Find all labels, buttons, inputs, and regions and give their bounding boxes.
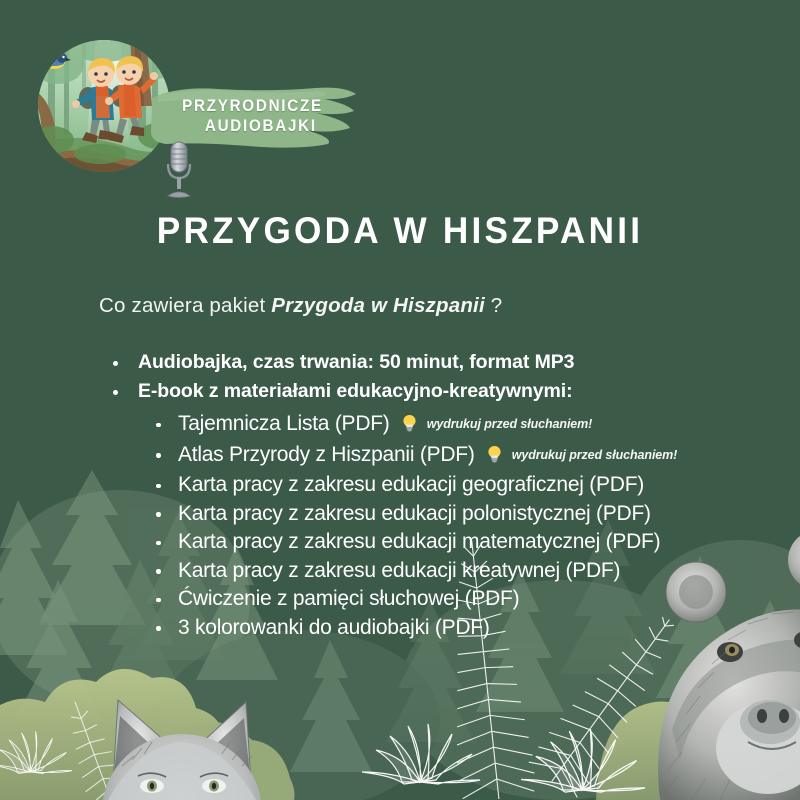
print-note: wydrukuj przed słuchaniem! xyxy=(427,417,593,431)
brand-line-2: AUDIOBAJKI xyxy=(205,117,317,135)
list-item: Karta pracy z zakresu edukacji kreatywne… xyxy=(0,557,800,586)
sub-level-list: Tajemnicza Lista (PDF) wydrukuj przed sł… xyxy=(0,410,800,642)
list-item: Karta pracy z zakresu edukacji geografic… xyxy=(0,471,800,500)
subtitle-emphasis: Przygoda w Hiszpanii xyxy=(271,294,485,317)
brand-line-1: PRZYRODNICZE xyxy=(182,97,323,115)
list-item: Audiobajka, czas trwania: 50 minut, form… xyxy=(0,348,800,377)
poster-canvas: PRZYRODNICZE AUDIOBAJKI xyxy=(0,0,800,800)
print-note: wydrukuj przed słuchaniem! xyxy=(512,448,678,462)
subtitle-question: Co zawiera pakiet Przygoda w Hiszpanii ? xyxy=(99,294,502,318)
list-item: Tajemnicza Lista (PDF) wydrukuj przed sł… xyxy=(0,410,800,441)
microphone-icon xyxy=(162,138,196,200)
page-title: PRZYGODA W HISZPANII xyxy=(20,210,780,252)
brand-header: PRZYRODNICZE AUDIOBAJKI xyxy=(22,28,362,183)
package-contents: Audiobajka, czas trwania: 50 minut, form… xyxy=(0,348,800,642)
subtitle-suffix: ? xyxy=(485,294,503,317)
list-item: Karta pracy z zakresu edukacji matematyc… xyxy=(0,528,800,557)
list-item-label: Atlas Przyrody z Hiszpanii (PDF) xyxy=(178,443,475,466)
lightbulb-icon xyxy=(402,414,417,433)
list-item: Atlas Przyrody z Hiszpanii (PDF) wydruku… xyxy=(0,441,800,472)
list-item: Ćwiczenie z pamięci słuchowej (PDF) xyxy=(0,585,800,614)
fox-illustration xyxy=(102,700,262,800)
list-item: 3 kolorowanki do audiobajki (PDF) xyxy=(0,614,800,643)
list-item: E-book z materiałami edukacyjno-kreatywn… xyxy=(0,377,800,406)
list-item: Karta pracy z zakresu edukacji polonisty… xyxy=(0,500,800,529)
top-level-list: Audiobajka, czas trwania: 50 minut, form… xyxy=(0,348,800,406)
subtitle-prefix: Co zawiera pakiet xyxy=(99,294,271,317)
lightbulb-icon xyxy=(487,445,502,464)
list-item-label: Tajemnicza Lista (PDF) xyxy=(178,412,390,435)
